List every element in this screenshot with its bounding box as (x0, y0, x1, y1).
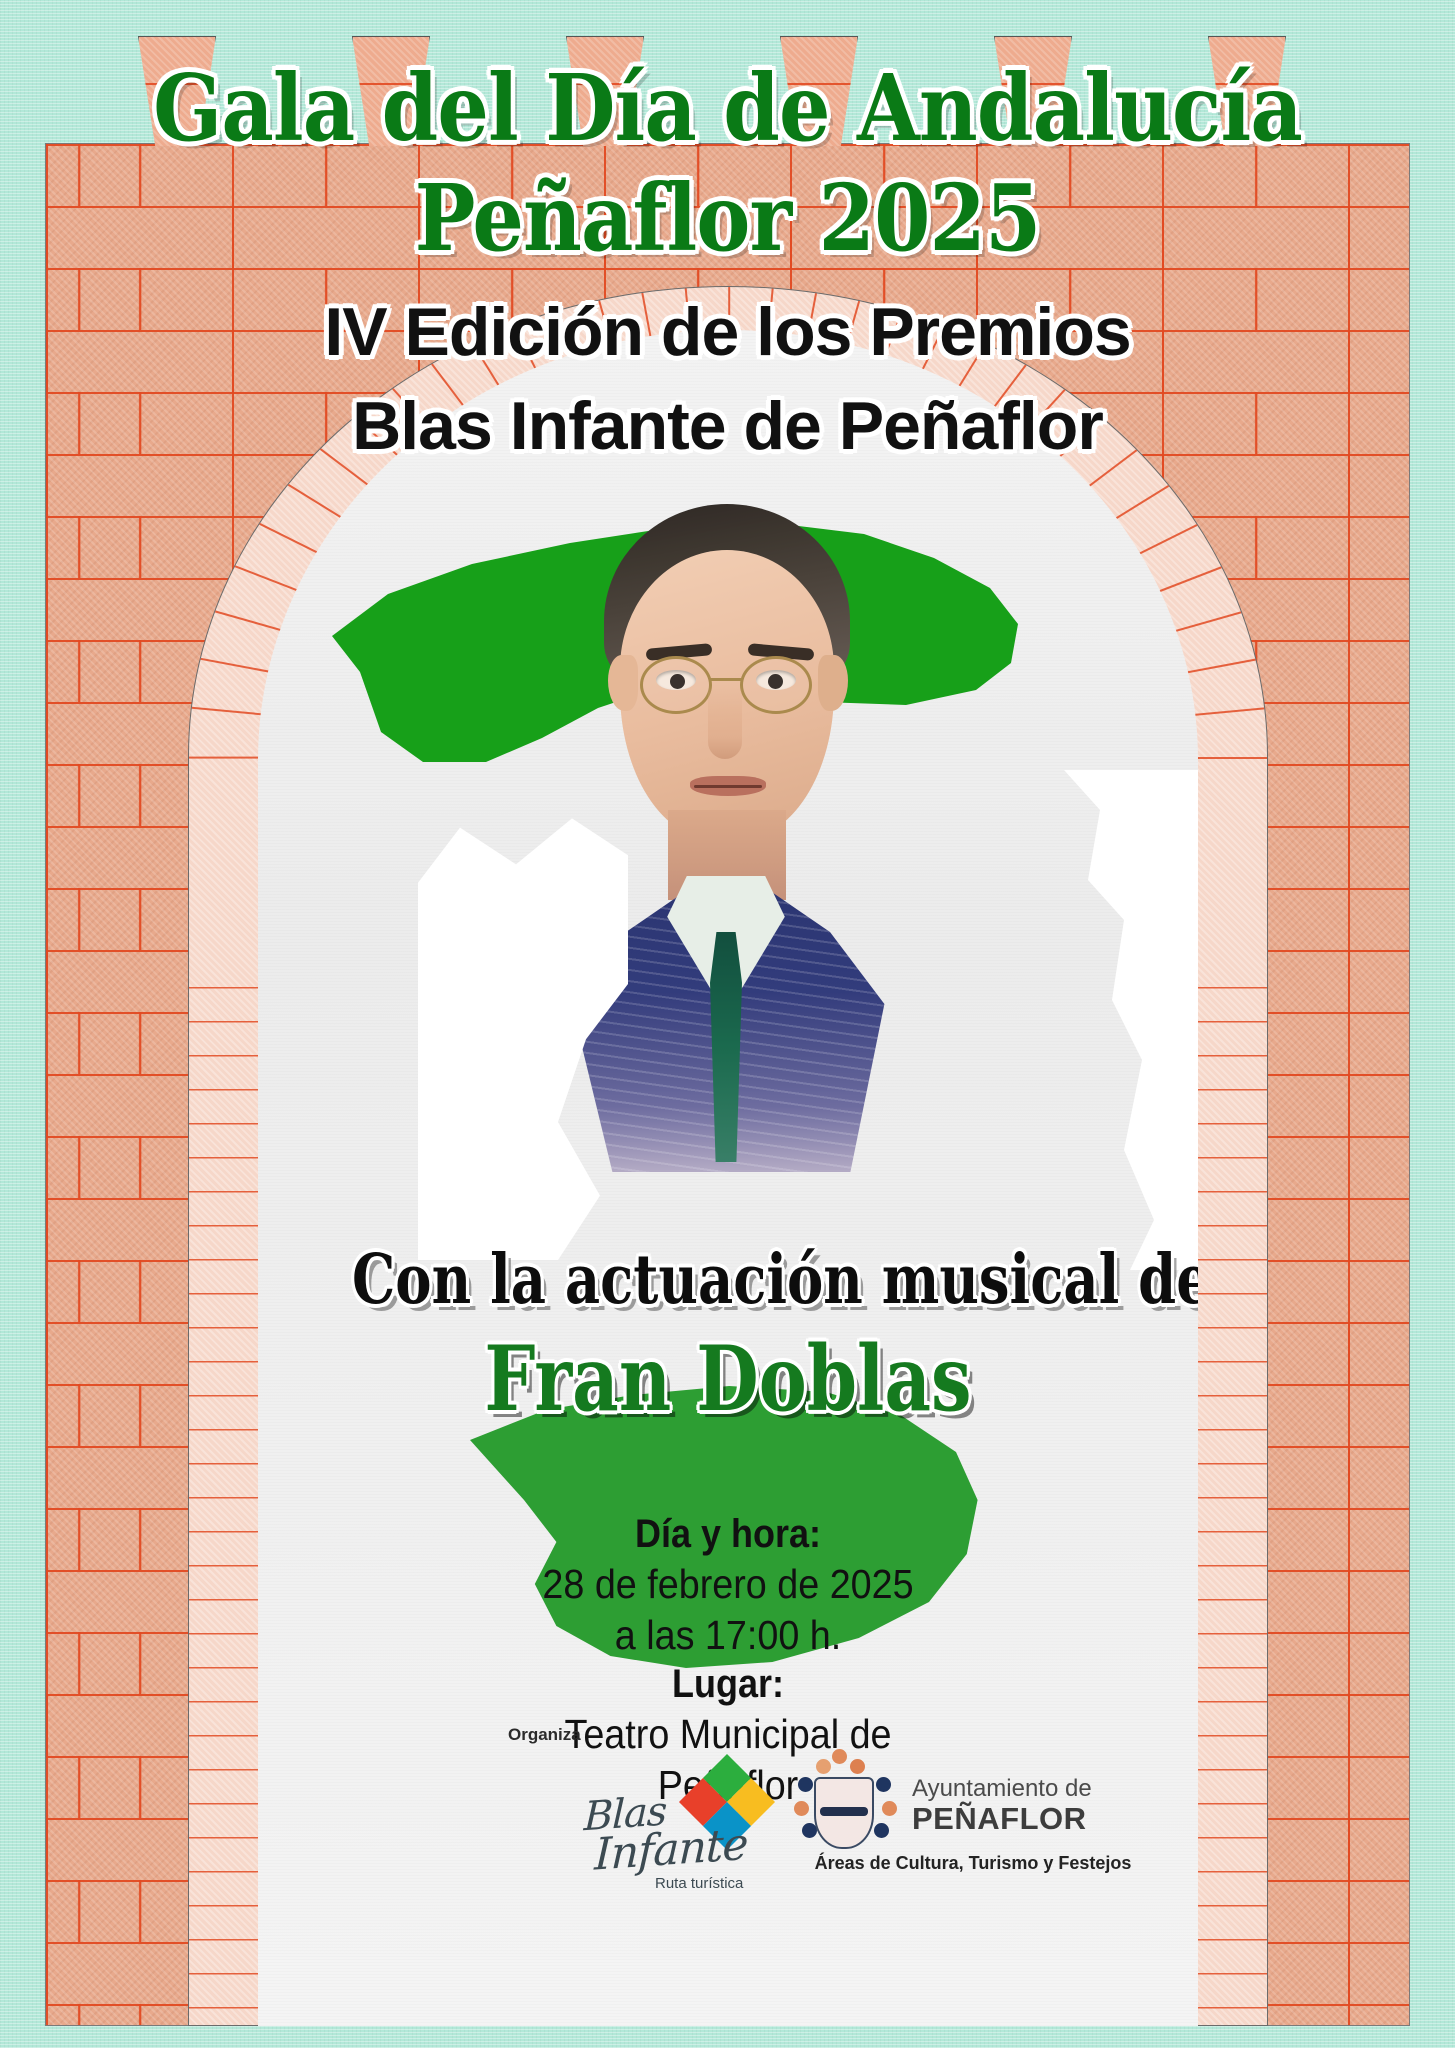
poster-title-line-1: Gala del Día de Andalucía (87, 60, 1367, 157)
crest-plume-4 (798, 1777, 813, 1792)
ayuntamiento-line-2: PEÑAFLOR (912, 1801, 1087, 1837)
crest-plume-3 (850, 1759, 865, 1774)
blas-infante-signature: Blas Infante (582, 1787, 764, 1877)
poster-canvas: Con la actuación musical de Fran Doblas … (0, 0, 1455, 2048)
ayuntamiento-logo[interactable]: Ayuntamiento de PEÑAFLOR Áreas de Cultur… (788, 1747, 1158, 1897)
crest-plume-6 (794, 1801, 809, 1816)
penaflor-coat-of-arms-icon (788, 1747, 900, 1867)
portrait-glasses-left (640, 656, 712, 714)
portrait-glasses-bridge (711, 678, 742, 681)
crest-plume-7 (882, 1801, 897, 1816)
signature-line-2: Infante (594, 1824, 763, 1876)
place-label: Lugar: (539, 1660, 917, 1709)
organiza-label: Organiza (508, 1725, 581, 1745)
performer-name: Fran Doblas (352, 1332, 1104, 1427)
portrait-ear-left (608, 655, 638, 711)
poster-subtitle-line-2: Blas Infante de Peñaflor (0, 390, 1455, 463)
crest-bar (820, 1807, 868, 1816)
crest-plume-5 (876, 1777, 891, 1792)
portrait-ear-right (818, 655, 848, 711)
blas-infante-tagline: Ruta turística (655, 1875, 743, 1892)
datetime-label: Día y hora: (539, 1510, 917, 1559)
crest-plume-2 (816, 1759, 831, 1774)
ayuntamiento-line-1: Ayuntamiento de (912, 1775, 1092, 1803)
portrait-glasses-right (740, 656, 812, 714)
poster-subtitle-line-1: IV Edición de los Premios (0, 296, 1455, 369)
crest-plume-9 (874, 1823, 889, 1838)
footer-logos: Organiza Blas Infante Ruta turística (498, 1725, 998, 1900)
poster-title-line-2: Peñaflor 2025 (87, 170, 1367, 267)
ayuntamiento-areas: Áreas de Cultura, Turismo y Festejos (788, 1853, 1158, 1874)
crest-plume-1 (832, 1749, 847, 1764)
blas-infante-logo[interactable]: Blas Infante Ruta turística (583, 1755, 793, 1895)
performance-label: Con la actuación musical de (352, 1245, 1104, 1316)
datetime-value: 28 de febrero de 2025 a las 17:00 h. (535, 1559, 921, 1661)
portrait-mouth (690, 776, 766, 796)
niche-panel: Con la actuación musical de Fran Doblas … (258, 330, 1198, 2026)
portrait-nose (708, 685, 742, 759)
